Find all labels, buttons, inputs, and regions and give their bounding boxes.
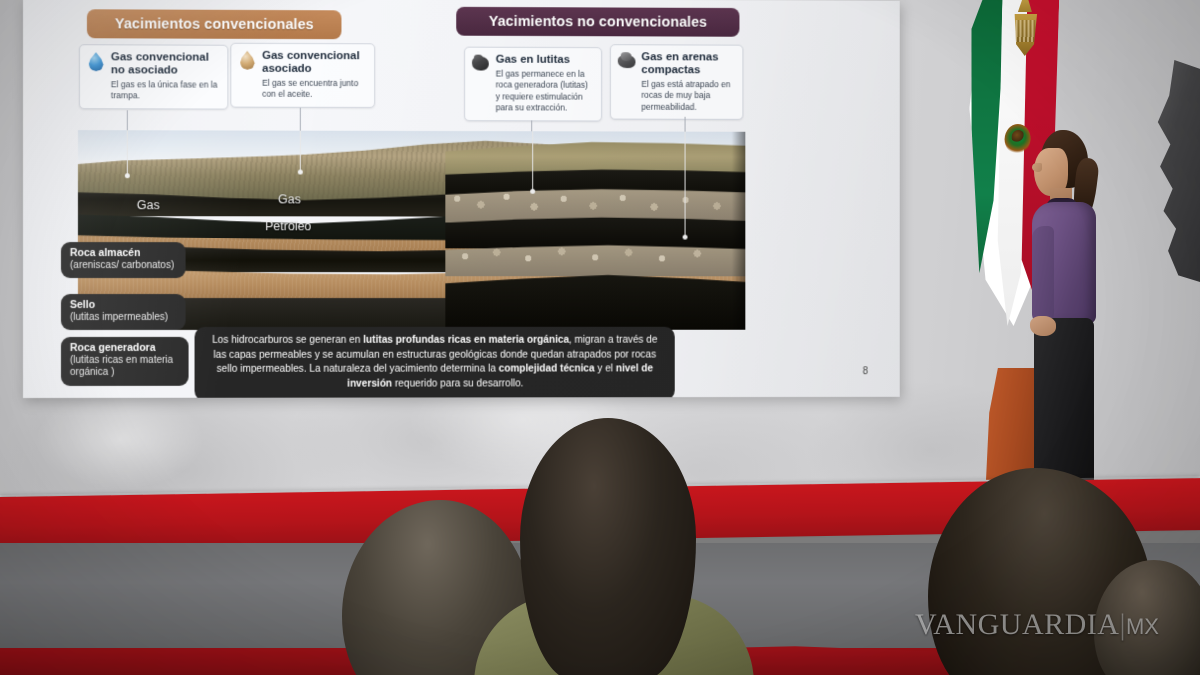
callout-subtitle: (lutitas ricas en materia orgánica )	[70, 354, 180, 379]
projection-screen: Yacimientos convencionales Yacimientos n…	[23, 0, 900, 398]
callout-roca-generadora: Roca generadora (lutitas ricas en materi…	[61, 337, 189, 386]
lead-line-tight-sand	[685, 132, 686, 237]
callout-title: Roca almacén	[70, 247, 177, 260]
card-gas-en-lutitas: Gas en lutitas El gas permanece en la ro…	[464, 47, 602, 122]
card-title: Gas en lutitas	[496, 54, 594, 67]
watermark: VANGUARDIA|MX	[915, 608, 1159, 642]
card-title: Gas convencional no asociado	[111, 51, 221, 77]
caption-part-4: requerido para su desarrollo.	[392, 379, 523, 390]
speaker-nose	[1032, 163, 1042, 172]
card-title: Gas en arenas compactas	[641, 51, 735, 77]
oil-droplet-icon	[237, 50, 257, 101]
lead-dot-tight-sand	[683, 235, 688, 240]
speaker-trousers	[1034, 318, 1094, 480]
caption-bold-2: complejidad técnica	[499, 364, 595, 375]
callout-subtitle: (lutitas impermeables)	[70, 312, 177, 325]
lead-dot-gas-right	[298, 170, 303, 175]
callout-sello: Sello (lutitas impermeables)	[61, 294, 186, 330]
tight-sand-rock-icon	[617, 51, 637, 113]
card-gas-convencional-asociado: Gas convencional asociado El gas se encu…	[230, 43, 375, 108]
card-title: Gas convencional asociado	[262, 50, 367, 76]
press-conference-stage: Yacimientos convencionales Yacimientos n…	[0, 0, 1200, 675]
callout-subtitle: (areniscas/ carbonatos)	[70, 260, 177, 273]
card-description: El gas permanece en la roca generadora (…	[496, 69, 594, 115]
header-conventional: Yacimientos convencionales	[87, 9, 342, 39]
card-description: El gas es la única fase en la trampa.	[111, 79, 221, 102]
diagram-label-gas-right: Gas	[278, 192, 301, 206]
card-gas-convencional-no-asociado: Gas convencional no asociado El gas es l…	[79, 44, 228, 109]
caption-part-1: Los hidrocarburos se generan en	[212, 335, 363, 346]
speaker-arm	[1032, 226, 1054, 324]
shale-rock-icon	[471, 54, 491, 114]
watermark-suffix: MX	[1126, 614, 1159, 639]
lead-line-gas-right	[300, 131, 301, 171]
lead-dot-gas-left	[125, 173, 130, 178]
caption-bold-1: lutitas profundas ricas en materia orgán…	[363, 335, 569, 346]
speaker-hands	[1030, 316, 1056, 336]
callout-roca-almacen: Roca almacén (areniscas/ carbonatos)	[61, 242, 186, 278]
lead-line-gas-left	[127, 130, 128, 174]
caption-part-3: y el	[595, 364, 616, 375]
uc-block-edge-shadow	[732, 132, 746, 330]
water-droplet-icon	[86, 51, 106, 102]
diagram-label-petroleo: Petróleo	[265, 219, 311, 233]
callout-title: Roca generadora	[70, 342, 180, 355]
callout-title: Sello	[70, 299, 177, 312]
card-gas-en-arenas-compactas: Gas en arenas compactas El gas está atra…	[610, 44, 743, 120]
header-non-conventional: Yacimientos no convencionales	[456, 7, 739, 37]
audience-head-center	[520, 418, 696, 675]
slide-caption: Los hidrocarburos se generan en lutitas …	[195, 327, 675, 398]
uc-layer-shale-3	[445, 270, 745, 330]
diagram-label-gas-left: Gas	[137, 198, 160, 212]
unconventional-block	[445, 131, 745, 330]
speaker-figure	[1018, 130, 1128, 480]
lead-dot-shale	[530, 189, 535, 194]
slide-page-number: 8	[863, 366, 868, 377]
card-description: El gas se encuentra junto con el aceite.	[262, 78, 367, 101]
card-description: El gas está atrapado en rocas de muy baj…	[641, 79, 735, 113]
watermark-name: VANGUARDIA	[915, 608, 1119, 641]
lead-line-shale	[532, 131, 533, 191]
